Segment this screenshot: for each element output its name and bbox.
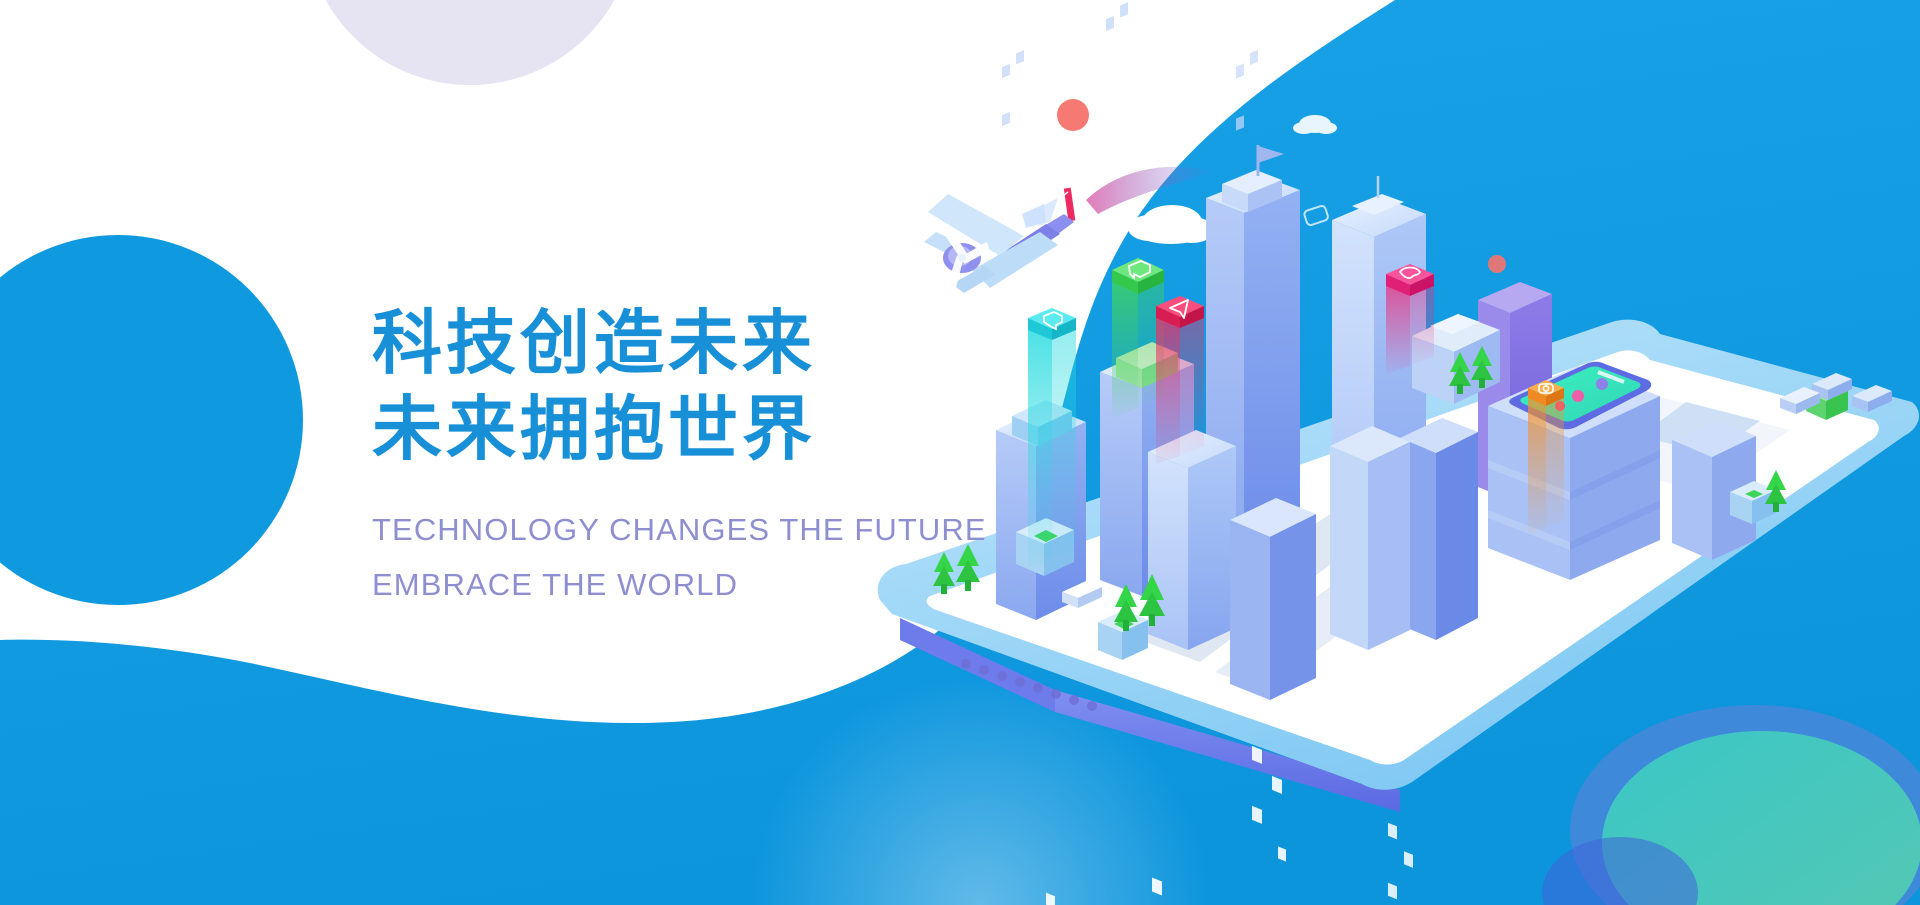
headline-block: 科技创造未来 未来拥抱世界 TECHNOLOGY CHANGES THE FUT… [372,300,1072,612]
subtitle-block: TECHNOLOGY CHANGES THE FUTURE EMBRACE TH… [372,502,1072,612]
airplane [924,194,1074,293]
banner-stage: 科技创造未来 未来拥抱世界 TECHNOLOGY CHANGES THE FUT… [0,0,1920,905]
decor-dot-red [1057,99,1089,131]
decor-dot-red-small [1488,255,1506,273]
beacon-magenta-phone[interactable] [1386,264,1434,374]
subtitle-line-2: EMBRACE THE WORLD [372,557,1072,612]
beacon-orange-camera[interactable] [1528,380,1564,536]
cloud-large [1128,205,1214,244]
cloud-tiny [1293,115,1337,134]
subtitle-line-1: TECHNOLOGY CHANGES THE FUTURE [372,502,1072,557]
beacon-pink-send[interactable] [1156,296,1204,464]
headline-line-1: 科技创造未来 [372,300,1072,386]
decor-square-outline [1303,205,1329,226]
headline-line-2: 未来拥抱世界 [372,386,1072,472]
